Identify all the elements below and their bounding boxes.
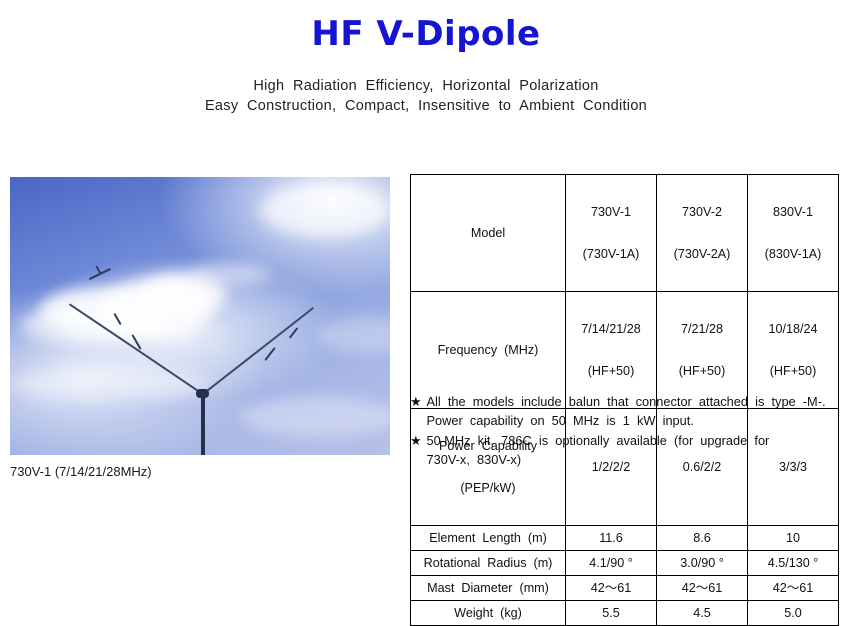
row-cell: 4.1/90 ° <box>566 551 657 576</box>
cell-line2: (HF+50) <box>750 364 836 378</box>
photo-caption: 730V-1 (7/14/21/28MHz) <box>10 464 152 479</box>
column-name-line2: (730V-2A) <box>659 247 745 261</box>
cloud-shape <box>20 305 170 345</box>
page-title: HF V-Dipole <box>0 14 852 54</box>
row-cell: 7/21/28 (HF+50) <box>657 292 748 409</box>
table-column-header-2: 830V-1 (830V-1A) <box>748 175 839 292</box>
row-cell: 42～61 <box>566 576 657 601</box>
row-cell: 7/14/21/28 (HF+50) <box>566 292 657 409</box>
footnote-item: ★ 50 MHz kit, 786C is optionally availab… <box>410 432 842 469</box>
table-row: Mast Diameter (mm) 42～61 42～61 42～61 <box>411 576 839 601</box>
row-label: Element Length (m) <box>411 526 566 551</box>
row-cell: 4.5 <box>657 601 748 626</box>
star-icon: ★ <box>410 393 421 430</box>
row-label-line2: (PEP/kW) <box>413 481 563 495</box>
row-label: Mast Diameter (mm) <box>411 576 566 601</box>
page-subtitle: High Radiation Efficiency, Horizontal Po… <box>0 76 852 116</box>
row-label-line1: Frequency (MHz) <box>413 343 563 357</box>
footnote-line2: Power capability on 50 MHz is 1 kW input… <box>426 412 842 431</box>
table-row: Rotational Radius (m) 4.1/90 ° 3.0/90 ° … <box>411 551 839 576</box>
footnote-item: ★ All the models include balun that conn… <box>410 393 842 430</box>
table-header-model: Model <box>411 175 566 292</box>
column-name-line2: (830V-1A) <box>750 247 836 261</box>
cell-line2: (HF+50) <box>659 364 745 378</box>
subtitle-line-2: Easy Construction, Compact, Insensitive … <box>0 96 852 116</box>
table-header-row: Model 730V-1 (730V-1A) 730V-2 (730V-2A) … <box>411 175 839 292</box>
row-label: Weight (kg) <box>411 601 566 626</box>
column-name-line2: (730V-1A) <box>568 247 654 261</box>
cloud-shape <box>240 397 390 437</box>
cloud-shape <box>190 263 270 285</box>
column-name-line1: 730V-2 <box>659 205 745 219</box>
row-cell: 11.6 <box>566 526 657 551</box>
antenna-mast <box>201 395 205 455</box>
table-column-header-0: 730V-1 (730V-1A) <box>566 175 657 292</box>
table-row: Frequency (MHz) 7/14/21/28 (HF+50) 7/21/… <box>411 292 839 409</box>
table-row: Weight (kg) 5.5 4.5 5.0 <box>411 601 839 626</box>
row-cell: 4.5/130 ° <box>748 551 839 576</box>
row-label: Rotational Radius (m) <box>411 551 566 576</box>
cell-line1: 10/18/24 <box>750 322 836 336</box>
row-cell: 42～61 <box>657 576 748 601</box>
footnote-line2: 730V-x, 830V-x) <box>426 451 842 470</box>
cloud-shape <box>260 183 390 237</box>
row-cell: 10 <box>748 526 839 551</box>
row-cell: 5.0 <box>748 601 839 626</box>
cloud-shape <box>10 367 210 401</box>
footnote-line1: All the models include balun that connec… <box>426 393 842 412</box>
row-cell: 8.6 <box>657 526 748 551</box>
cell-line2: (HF+50) <box>568 364 654 378</box>
product-photo <box>10 177 390 455</box>
row-cell: 5.5 <box>566 601 657 626</box>
footnote-text: All the models include balun that connec… <box>426 393 842 430</box>
table-column-header-1: 730V-2 (730V-2A) <box>657 175 748 292</box>
footnotes: ★ All the models include balun that conn… <box>410 393 842 471</box>
cell-line1: 7/14/21/28 <box>568 322 654 336</box>
row-cell: 3.0/90 ° <box>657 551 748 576</box>
row-cell: 10/18/24 (HF+50) <box>748 292 839 409</box>
footnote-line1: 50 MHz kit, 786C is optionally available… <box>426 432 842 451</box>
subtitle-line-1: High Radiation Efficiency, Horizontal Po… <box>0 76 852 96</box>
footnote-text: 50 MHz kit, 786C is optionally available… <box>426 432 842 469</box>
cell-line1: 7/21/28 <box>659 322 745 336</box>
column-name-line1: 830V-1 <box>750 205 836 219</box>
table-row: Element Length (m) 11.6 8.6 10 <box>411 526 839 551</box>
row-label: Frequency (MHz) <box>411 292 566 409</box>
row-cell: 42～61 <box>748 576 839 601</box>
column-name-line1: 730V-1 <box>568 205 654 219</box>
page-root: HF V-Dipole High Radiation Efficiency, H… <box>0 0 852 498</box>
star-icon: ★ <box>410 432 421 469</box>
